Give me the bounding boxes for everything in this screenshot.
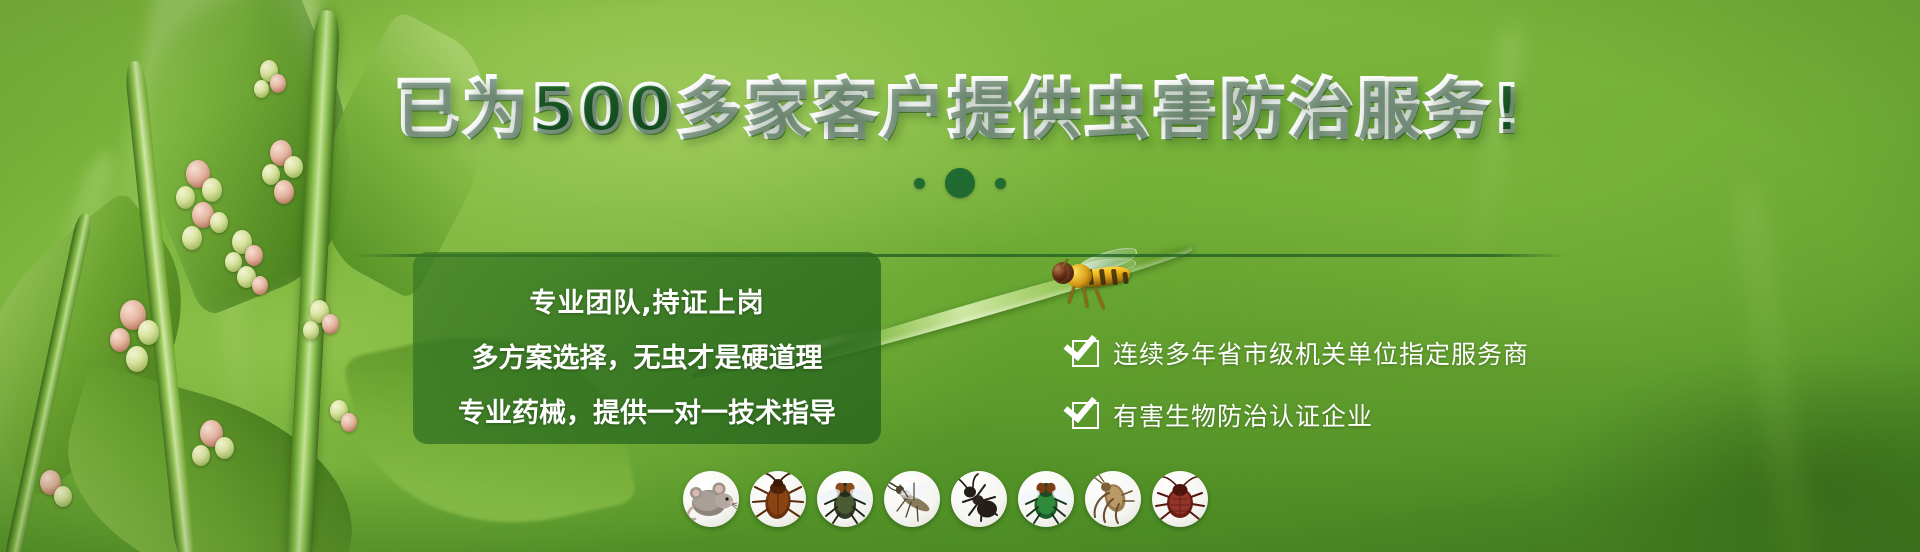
mosquito-icon[interactable] (884, 471, 940, 527)
decor-dot-right (995, 178, 1006, 189)
slogan-panel: 专业团队,持证上岗 多方案选择，无虫才是硬道理 专业药械，提供一对一技术指导 (413, 252, 881, 444)
ant-icon[interactable] (951, 471, 1007, 527)
bedbug-icon[interactable] (1152, 471, 1208, 527)
slogan-line-1: 专业团队,持证上岗 (413, 281, 881, 320)
banner-headline-text: 已为500多家客户提供虫害防治服务! (395, 73, 1526, 147)
checklist-item: 连续多年省市级机关单位指定服务商 (1072, 335, 1529, 371)
checkbox-checked-icon (1072, 402, 1099, 429)
checklist-item: 有害生物防治认证企业 (1072, 397, 1529, 433)
banner-headline: 已为500多家客户提供虫害防治服务! (0, 78, 1920, 142)
checkbox-checked-icon (1072, 340, 1099, 367)
flea-icon[interactable] (1085, 471, 1141, 527)
blowfly-icon[interactable] (1018, 471, 1074, 527)
pest-type-icon-row (683, 471, 1208, 527)
slogan-line-3: 专业药械，提供一对一技术指导 (413, 391, 881, 430)
housefly-icon[interactable] (817, 471, 873, 527)
cockroach-icon[interactable] (750, 471, 806, 527)
checklist-item-label: 连续多年省市级机关单位指定服务商 (1113, 335, 1529, 371)
rodent-icon[interactable] (683, 471, 739, 527)
pest-control-banner: 已为500多家客户提供虫害防治服务! 专业团队,持证上岗 多方案选择，无虫才是硬… (0, 0, 1920, 552)
credentials-checklist: 连续多年省市级机关单位指定服务商 有害生物防治认证企业 (1072, 335, 1529, 433)
headline-decor-dots (0, 168, 1920, 198)
slogan-line-2: 多方案选择，无虫才是硬道理 (413, 336, 881, 375)
decor-dot-center (945, 168, 975, 198)
decor-dot-left (914, 178, 925, 189)
checklist-item-label: 有害生物防治认证企业 (1113, 397, 1373, 433)
